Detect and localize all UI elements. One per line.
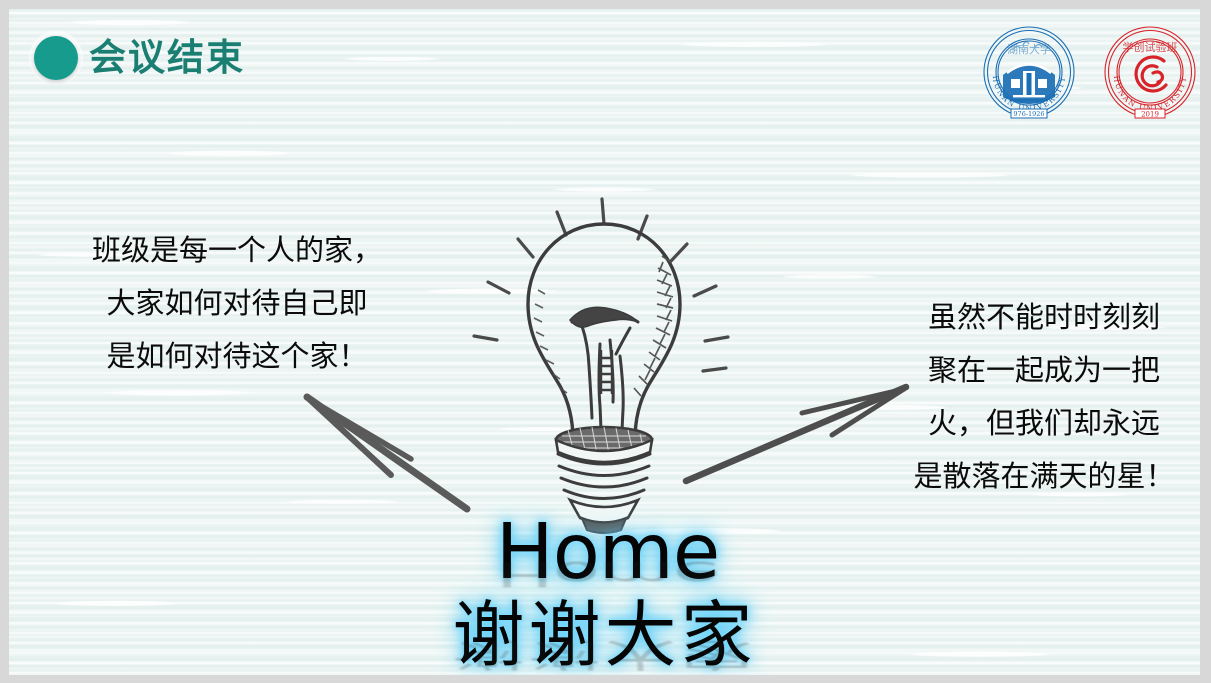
slide-header: 会议结束 bbox=[9, 9, 1200, 109]
left-quote-text: 班级是每一个人的家， 大家如何对待自己即 是如何对待这个家！ bbox=[57, 224, 417, 383]
hunan-university-red-seal-logo: 学创试验班 HUNAN UNIVERSITY 2019 bbox=[1094, 23, 1200, 123]
page-title: 会议结束 bbox=[89, 35, 245, 81]
svg-text:2019: 2019 bbox=[1141, 110, 1159, 118]
slide-canvas: 会议结束 bbox=[9, 9, 1200, 675]
svg-text:学创试验班: 学创试验班 bbox=[1123, 40, 1178, 54]
sketch-arrow-left-icon bbox=[299, 387, 529, 517]
hunan-university-blue-seal-logo: 湖南大学 HUNAN UNIVERSITY 976-1926 bbox=[973, 23, 1085, 123]
closing-thanks-text: 谢谢大家 bbox=[9, 599, 1200, 671]
closing-message: Home 谢谢大家 bbox=[9, 514, 1200, 671]
closing-home-text: Home bbox=[15, 514, 1200, 591]
right-quote-text: 虽然不能时时刻刻 聚在一起成为一把 火，但我们却永远 是散落在满天的星！ bbox=[889, 291, 1199, 503]
sketch-arrow-right-icon bbox=[674, 369, 924, 499]
svg-text:湖南大学: 湖南大学 bbox=[1007, 42, 1051, 56]
svg-text:976-1926: 976-1926 bbox=[1013, 110, 1044, 118]
svg-text:HUNAN UNIVERSITY: HUNAN UNIVERSITY bbox=[1112, 75, 1188, 113]
bullet-dot-icon bbox=[34, 36, 78, 80]
